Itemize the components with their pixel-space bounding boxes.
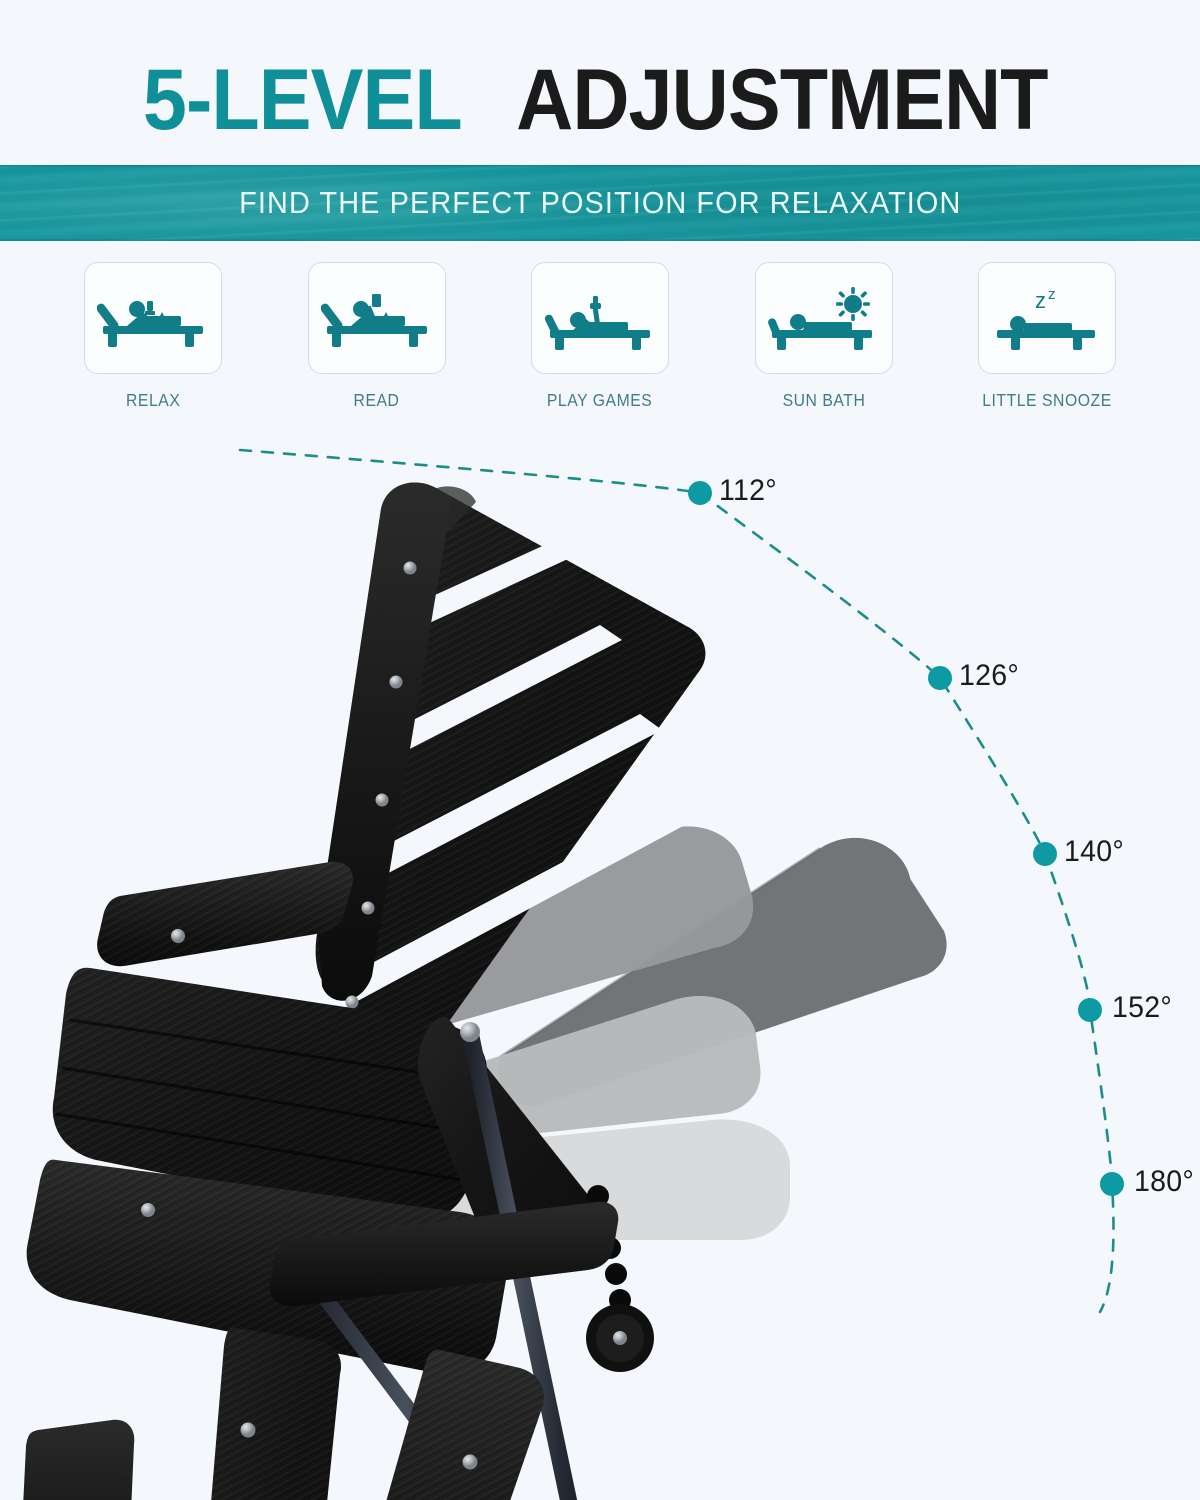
chair-front-leg-left <box>191 1328 341 1500</box>
chair-rear-leg <box>20 1420 135 1500</box>
feature-read-box <box>308 262 446 374</box>
person-relaxing-on-lounger-icon <box>97 286 209 350</box>
angle-dot-180 <box>1100 1172 1124 1196</box>
feature-play-games-label: PLAY GAMES <box>547 390 652 411</box>
subtitle-banner-text: FIND THE PERFECT POSITION FOR RELAXATION <box>239 185 961 221</box>
feature-relax: RELAX <box>60 262 246 412</box>
chair-wheel-rear <box>586 1304 654 1372</box>
person-sunbathing-on-lounger-icon <box>768 286 880 350</box>
feature-sun-bath-label: SUN BATH <box>782 390 865 411</box>
page-title-accent: 5-LEVEL <box>143 57 462 143</box>
chair-armrest <box>97 862 353 966</box>
angle-label-180: 180° <box>1134 1165 1194 1199</box>
infographic-page: 5-LEVEL ADJUSTMENT FIND THE PERFECT POSI… <box>0 0 1200 1500</box>
feature-sun-bath-box <box>755 262 893 374</box>
person-reading-on-lounger-icon <box>321 286 433 350</box>
angle-label-140: 140° <box>1064 835 1124 869</box>
subtitle-banner: FIND THE PERFECT POSITION FOR RELAXATION <box>0 165 1200 241</box>
feature-little-snooze-label: LITTLE SNOOZE <box>982 390 1112 411</box>
feature-sun-bath: SUN BATH <box>731 262 917 412</box>
feature-play-games: PLAY GAMES <box>507 262 693 412</box>
feature-little-snooze-box: z z <box>978 262 1116 374</box>
feature-play-games-box <box>531 262 669 374</box>
zzz-glyph: z <box>1035 288 1046 313</box>
angle-dot-112 <box>688 481 712 505</box>
angle-label-152: 152° <box>1112 991 1172 1025</box>
angle-dot-140 <box>1033 842 1057 866</box>
angle-label-112: 112° <box>719 474 777 508</box>
feature-read-label: READ <box>354 390 400 411</box>
angle-dot-152 <box>1078 998 1102 1022</box>
person-gaming-on-lounger-icon <box>544 286 656 350</box>
feature-relax-box <box>84 262 222 374</box>
angle-dot-126 <box>928 666 952 690</box>
feature-little-snooze: z z LITTLE SNOOZE <box>954 262 1140 412</box>
feature-read: READ <box>284 262 470 412</box>
feature-icon-row: RELAX <box>60 262 1140 412</box>
angle-label-126: 126° <box>959 659 1019 693</box>
sun-icon <box>836 287 870 321</box>
product-adjustment-diagram <box>0 420 1200 1500</box>
zzz-glyph-small: z <box>1048 286 1056 303</box>
feature-relax-label: RELAX <box>126 390 180 411</box>
page-title: 5-LEVEL ADJUSTMENT <box>0 48 1200 152</box>
person-sleeping-on-lounger-icon: z z <box>991 286 1103 350</box>
page-title-rest: ADJUSTMENT <box>517 57 1048 143</box>
